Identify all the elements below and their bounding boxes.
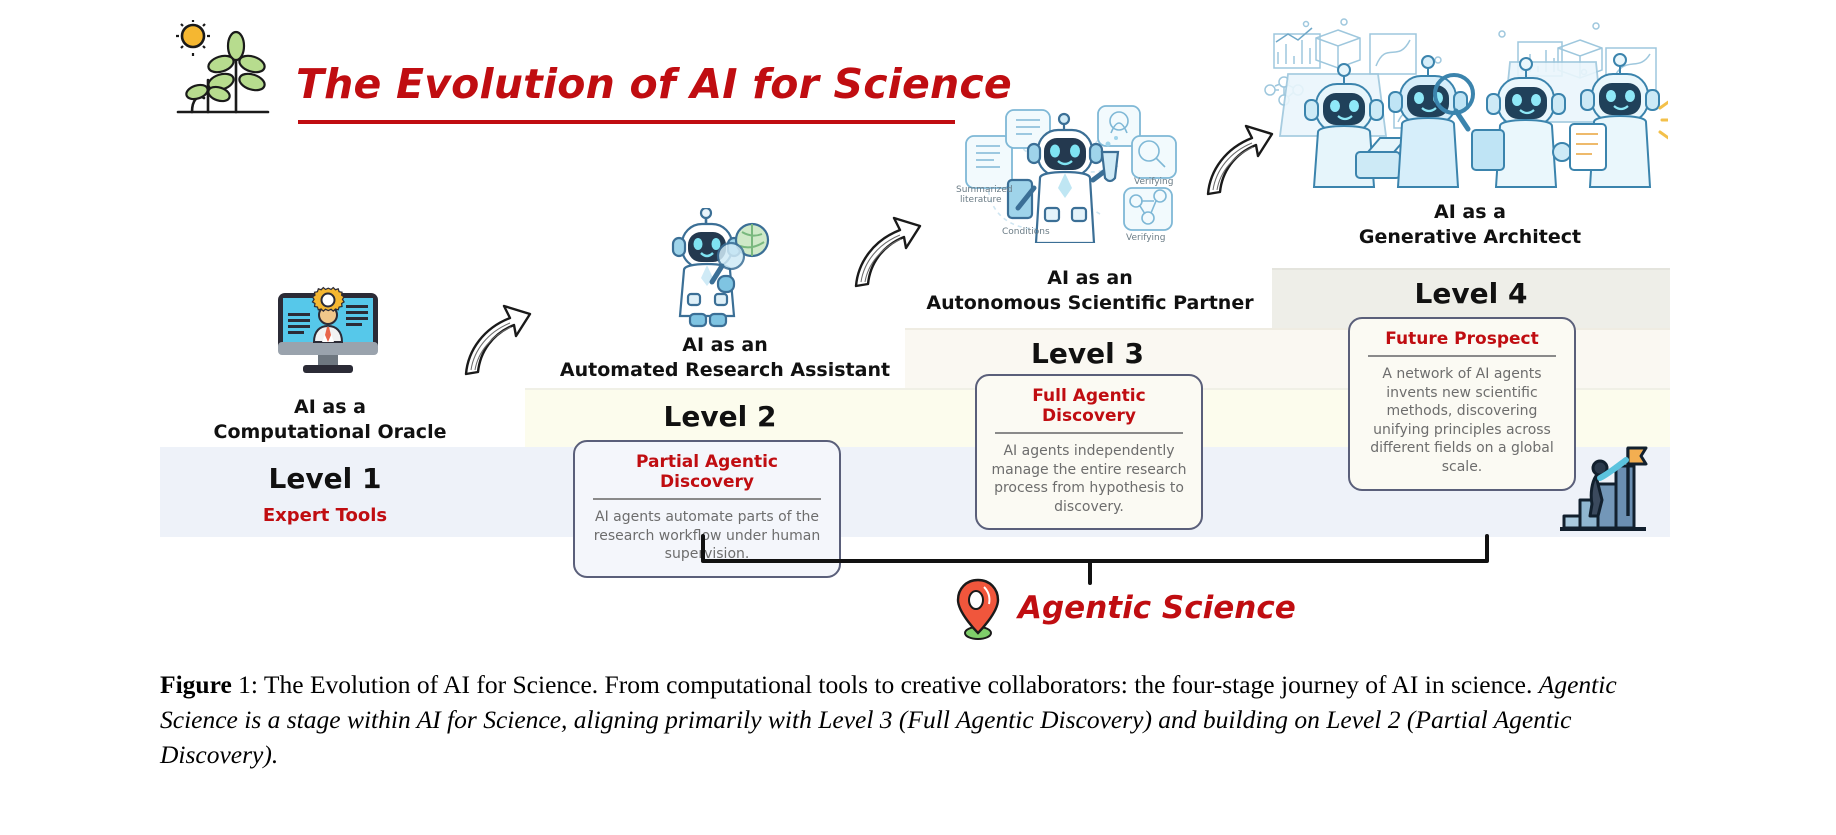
level-4-title: Level 4 — [1272, 277, 1670, 310]
stage-label-line-2: Autonomous Scientific Partner — [905, 291, 1275, 316]
card-divider — [995, 432, 1183, 434]
curved-arrow-icon — [458, 298, 536, 380]
card-divider — [1368, 355, 1556, 357]
agentic-science-bracket — [700, 533, 1490, 593]
card-full-agentic-discovery: Full Agentic Discovery AI agents indepen… — [975, 374, 1203, 530]
page-title: The Evolution of AI for Science — [296, 60, 1012, 108]
figure-canvas: The Evolution of AI for Science Level 1 … — [0, 0, 1836, 835]
stage-label-line-2: Automated Research Assistant — [540, 358, 910, 383]
caption-sentence-1: The Evolution of AI for Science. From co… — [264, 670, 1532, 699]
card-divider — [593, 498, 821, 500]
robot-team-icon — [1248, 12, 1668, 197]
robot-workflow-icon: Summarized literature Conditions Verifyi… — [948, 88, 1180, 243]
card-title: Partial Agentic Discovery — [587, 452, 827, 498]
caption-figure-label: Figure — [160, 670, 232, 699]
label-verifying-b: Verifying — [1126, 233, 1165, 243]
sprout-sun-icon — [168, 20, 278, 120]
stage-label-line-1: AI as a — [1330, 200, 1610, 225]
robot-scientist-magnifier-globe-icon — [660, 208, 772, 328]
card-body: AI agents independently manage the entir… — [989, 442, 1189, 516]
curved-arrow-icon — [848, 212, 926, 292]
stage-label-line-2: Computational Oracle — [180, 420, 480, 445]
card-title: Future Prospect — [1362, 329, 1562, 355]
figure-title-row: The Evolution of AI for Science — [168, 20, 988, 130]
card-title: Full Agentic Discovery — [989, 386, 1189, 432]
caption-number: 1: — [238, 670, 258, 699]
stage-label-level-4: AI as a Generative Architect — [1330, 200, 1610, 250]
stage-label-level-2: AI as an Automated Research Assistant — [540, 333, 910, 383]
label-summarized-literature-line1: Summarized — [956, 185, 1013, 195]
label-conditions: Conditions — [1002, 227, 1050, 237]
figure-caption: Figure 1: The Evolution of AI for Scienc… — [160, 668, 1680, 773]
stage-label-line-2: Generative Architect — [1330, 225, 1610, 250]
map-pin-icon — [955, 578, 1001, 640]
stage-label-line-1: AI as an — [540, 333, 910, 358]
level-1-title: Level 1 — [160, 462, 490, 495]
level-2-title: Level 2 — [525, 400, 915, 433]
title-underline — [298, 120, 955, 124]
label-verifying-a: Verifying — [1134, 177, 1173, 187]
card-body: A network of AI agents invents new scien… — [1362, 365, 1562, 477]
level-1-subtitle: Expert Tools — [160, 505, 490, 526]
agentic-science-label: Agentic Science — [1018, 590, 1296, 626]
stage-label-level-3: AI as an Autonomous Scientific Partner — [905, 266, 1275, 316]
stage-label-line-1: AI as an — [905, 266, 1275, 291]
climber-flag-icon — [1560, 438, 1648, 534]
stage-label-line-1: AI as a — [180, 395, 480, 420]
label-summarized-literature-line2: literature — [960, 195, 1002, 205]
stage-label-level-1: AI as a Computational Oracle — [180, 395, 480, 445]
monitor-person-gear-icon — [270, 285, 386, 381]
card-future-prospect: Future Prospect A network of AI agents i… — [1348, 317, 1576, 491]
level-3-title: Level 3 — [905, 337, 1270, 370]
